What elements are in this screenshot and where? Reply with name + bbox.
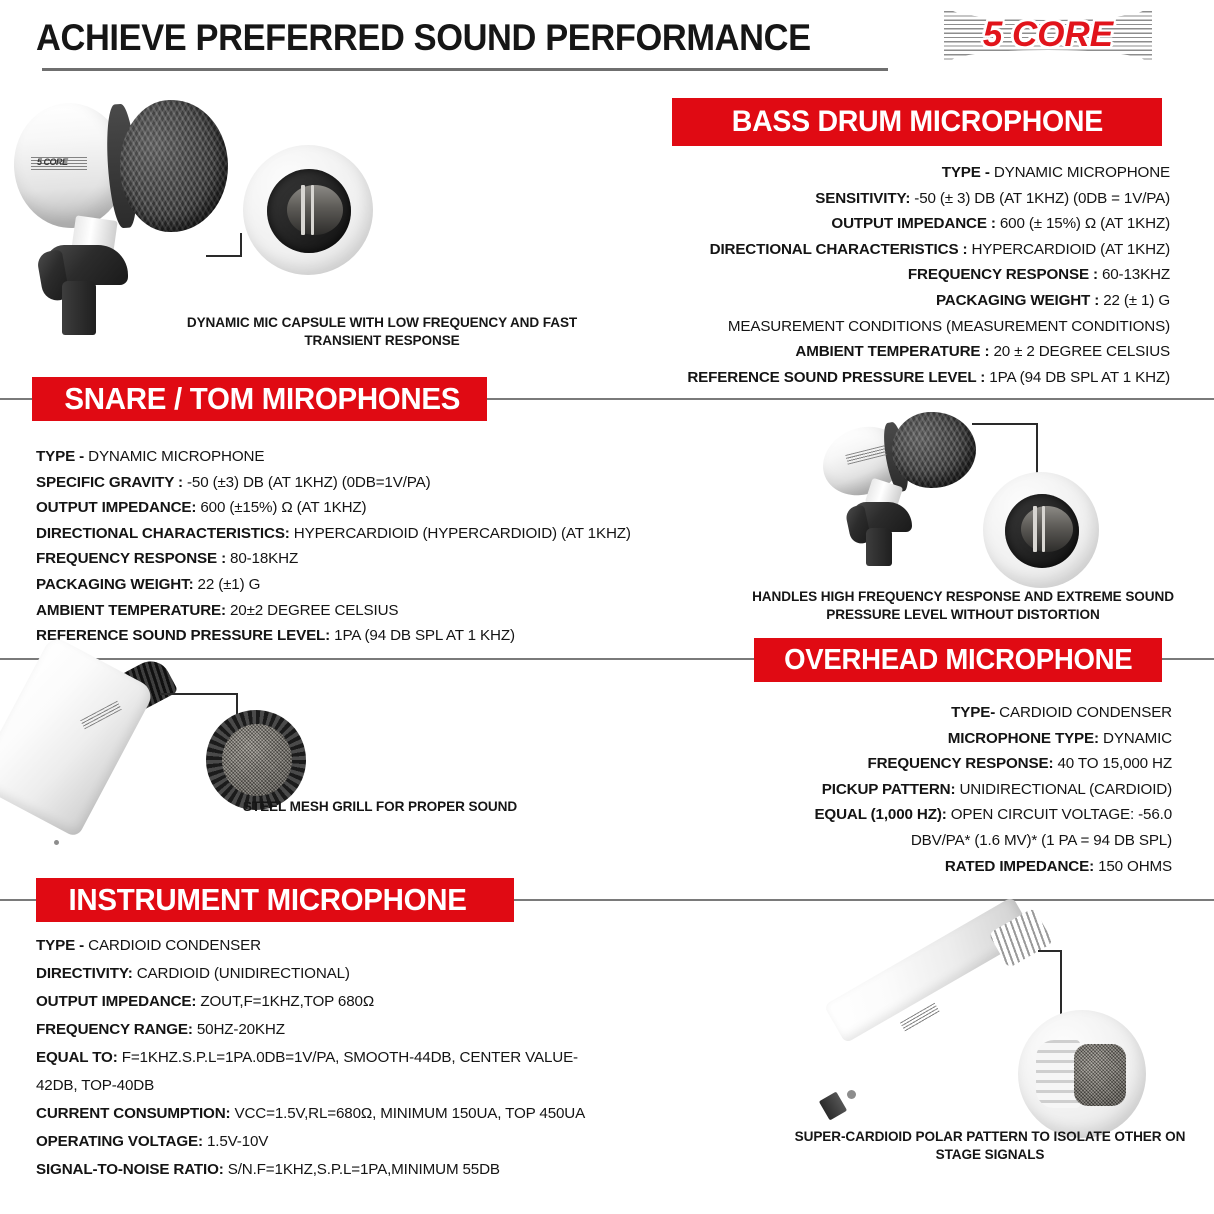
steel-mesh-disc (222, 724, 292, 796)
specs-overhead: TYPE- CARDIOID CONDENSER MICROPHONE TYPE… (600, 700, 1172, 879)
spec-row: TYPE - DYNAMIC MICROPHONE (430, 160, 1170, 186)
capsule-inset-circle (1018, 1010, 1146, 1138)
capsule-ring (311, 185, 314, 235)
leader-line-vertical (240, 233, 242, 257)
banner-bass-drum: BASS DRUM MICROPHONE (672, 98, 1162, 146)
mic-body-screw (847, 1090, 856, 1099)
spec-row: DIRECTIONAL CHARACTERISTICS : HYPERCARDI… (430, 237, 1170, 263)
leader-line-horizontal (1038, 950, 1062, 952)
capsule-barrel (1021, 506, 1073, 552)
leader-line-horizontal (206, 255, 242, 257)
logo-text: 5 CORE (944, 8, 1152, 62)
mic-grille (120, 100, 228, 232)
infographic-page: ACHIEVE PREFERRED SOUND PERFORMANCE 5 CO… (0, 0, 1214, 1214)
capsule-inset-circle (983, 472, 1099, 588)
mic-connector (819, 1091, 847, 1120)
spec-row: EQUAL TO: F=1KHZ.S.P.L=1PA.0DB=1V/PA, SM… (36, 1044, 616, 1100)
brand-logo-5core: 5 CORE (944, 8, 1152, 62)
caption-snare-tom: HANDLES HIGH FREQUENCY RESPONSE AND EXTR… (728, 588, 1198, 624)
banner-instrument: INSTRUMENT MICROPHONE (36, 878, 514, 922)
specs-instrument: TYPE - CARDIOID CONDENSER DIRECTIVITY: C… (36, 932, 616, 1184)
spec-row: SIGNAL-TO-NOISE RATIO: S/N.F=1KHZ,S.P.L=… (36, 1156, 616, 1184)
leader-line-vertical (236, 693, 238, 715)
spec-row: DIRECTIONAL CHARACTERISTICS: HYPERCARDIO… (36, 521, 716, 547)
caption-bass-drum: DYNAMIC MIC CAPSULE WITH LOW FREQUENCY A… (172, 314, 592, 350)
leader-line-vertical (1036, 423, 1038, 477)
specs-bass-drum: TYPE - DYNAMIC MICROPHONE SENSITIVITY: -… (430, 160, 1170, 390)
leader-line-vertical (1060, 950, 1062, 1016)
spec-row: OUTPUT IMPEDANCE: ZOUT,F=1KHZ,TOP 680Ω (36, 988, 616, 1016)
spec-row: DBV/PA* (1.6 MV)* (1 PA = 94 DB SPL) (600, 828, 1172, 854)
mic-clip-base (866, 528, 892, 566)
spec-row: REFERENCE SOUND PRESSURE LEVEL: 1PA (94 … (36, 623, 716, 649)
spec-row: TYPE - DYNAMIC MICROPHONE (36, 444, 716, 470)
mic-handle (0, 635, 156, 839)
capsule-ring (301, 185, 305, 235)
leader-line-horizontal (972, 423, 1038, 425)
title-underline (42, 68, 888, 71)
mic-clip-base (62, 281, 96, 335)
caption-instrument: SUPER-CARDIOID POLAR PATTERN TO ISOLATE … (780, 1128, 1200, 1164)
page-title: ACHIEVE PREFERRED SOUND PERFORMANCE (36, 17, 811, 59)
mic-body-screw (54, 840, 59, 845)
spec-row: PACKAGING WEIGHT: 22 (±1) G (36, 572, 716, 598)
spec-row: TYPE - CARDIOID CONDENSER (36, 932, 616, 960)
spec-row: SENSITIVITY: -50 (± 3) DB (AT 1KHZ) (0DB… (430, 186, 1170, 212)
banner-overhead: OVERHEAD MICROPHONE (754, 638, 1162, 682)
mic-grille (892, 412, 976, 488)
capsule-ring (1033, 506, 1037, 552)
spec-row: FREQUENCY RESPONSE : 60-13KHZ (430, 262, 1170, 288)
spec-row: SPECIFIC GRAVITY : -50 (±3) DB (AT 1KHZ)… (36, 470, 716, 496)
capsule-barrel (287, 185, 343, 235)
spec-row: RATED IMPEDANCE: 150 OHMS (600, 854, 1172, 880)
product-image-bass-drum-mic: 5 CORE (0, 85, 400, 335)
capsule-mesh-disc (1074, 1044, 1126, 1106)
spec-row: CURRENT CONSUMPTION: VCC=1.5V,RL=680Ω, M… (36, 1100, 616, 1128)
spec-row: FREQUENCY RANGE: 50HZ-20KHZ (36, 1016, 616, 1044)
spec-row: OUTPUT IMPEDANCE : 600 (± 15%) Ω (AT 1KH… (430, 211, 1170, 237)
spec-row: FREQUENCY RESPONSE: 40 TO 15,000 HZ (600, 751, 1172, 777)
spec-row: REFERENCE SOUND PRESSURE LEVEL : 1PA (94… (430, 365, 1170, 391)
product-image-snare-tom-mic (790, 410, 1214, 590)
caption-overhead: STEEL MESH GRILL FOR PROPER SOUND (170, 798, 590, 816)
specs-snare-tom: TYPE - DYNAMIC MICROPHONE SPECIFIC GRAVI… (36, 444, 716, 649)
spec-row: EQUAL (1,000 HZ): OPEN CIRCUIT VOLTAGE: … (600, 802, 1172, 828)
spec-row: OUTPUT IMPEDANCE: 600 (±15%) Ω (AT 1KHZ) (36, 495, 716, 521)
product-image-overhead-mic (20, 650, 370, 880)
spec-row: OPERATING VOLTAGE: 1.5V-10V (36, 1128, 616, 1156)
banner-snare-tom: SNARE / TOM MIROPHONES (32, 377, 487, 421)
spec-row: MICROPHONE TYPE: DYNAMIC (600, 726, 1172, 752)
capsule-inset-circle (243, 145, 373, 275)
product-image-instrument-mic (790, 900, 1214, 1150)
spec-row: DIRECTIVITY: CARDIOID (UNIDIRECTIONAL) (36, 960, 616, 988)
spec-row: FREQUENCY RESPONSE : 80-18KHZ (36, 546, 716, 572)
spec-row: AMBIENT TEMPERATURE: 20±2 DEGREE CELSIUS (36, 598, 716, 624)
spec-row: PICKUP PATTERN: UNIDIRECTIONAL (CARDIOID… (600, 777, 1172, 803)
leader-line-horizontal (160, 693, 238, 695)
spec-row: PACKAGING WEIGHT : 22 (± 1) G (430, 288, 1170, 314)
mic-pencil-body (824, 896, 1035, 1043)
mic-logo-text: 5 CORE (37, 157, 68, 167)
capsule-ring (1042, 506, 1045, 552)
spec-row: TYPE- CARDIOID CONDENSER (600, 700, 1172, 726)
